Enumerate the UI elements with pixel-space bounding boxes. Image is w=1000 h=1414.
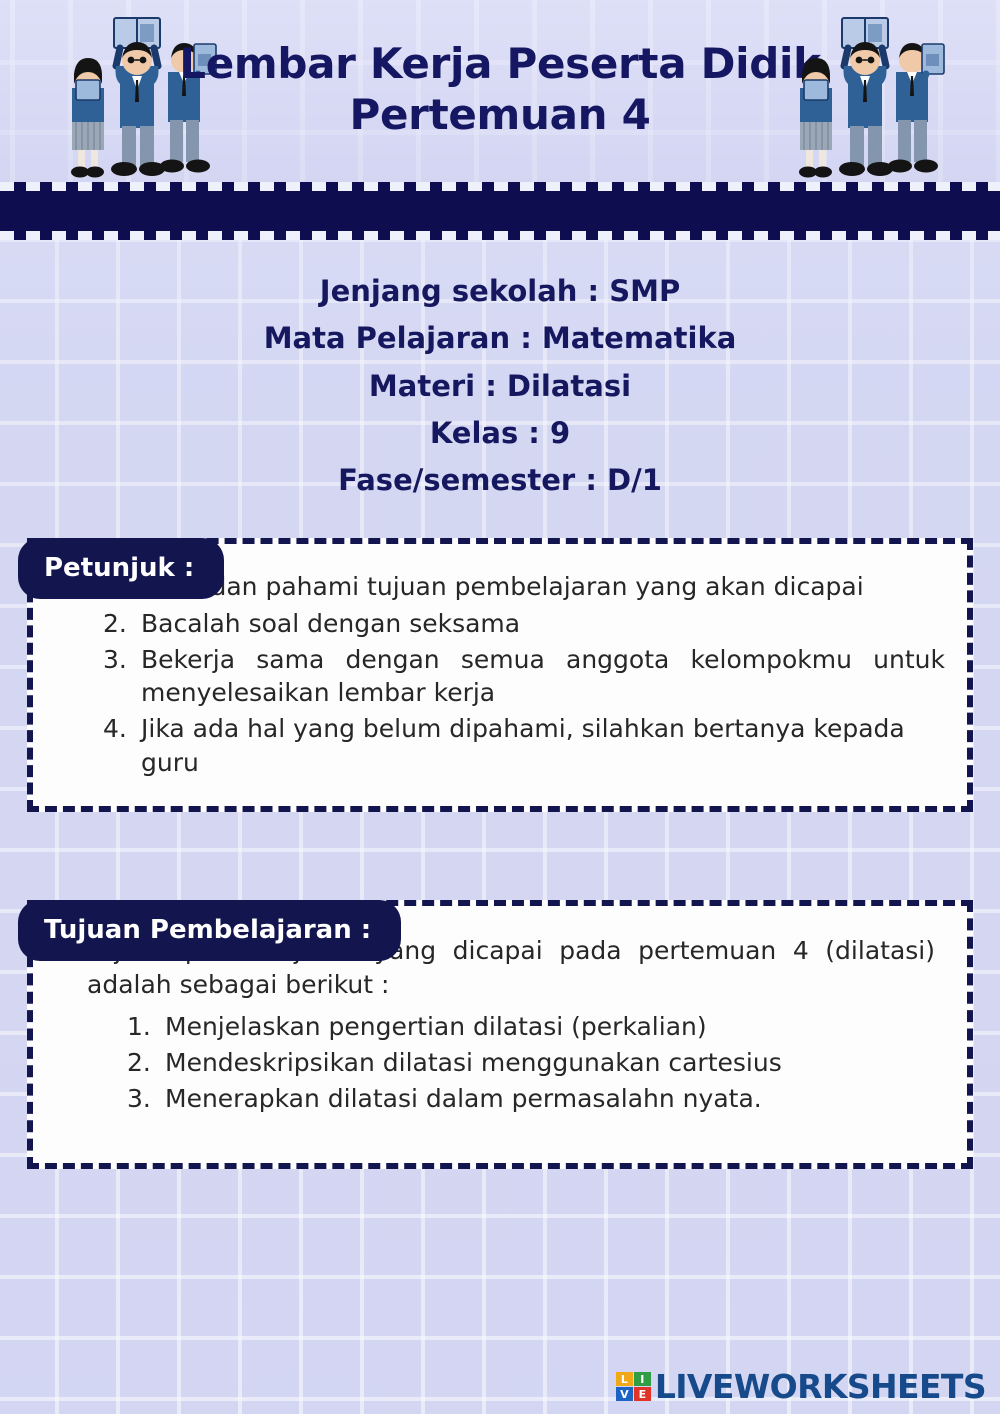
students-illustration-right xyxy=(790,14,950,180)
list-item: Bacalah soal dengan seksama xyxy=(103,607,945,640)
worksheet-page: Lembar Kerja Peserta Didik Pertemuan 4 xyxy=(0,0,1000,1414)
liveworksheets-logo[interactable]: L I V E LIVEWORKSHEETS xyxy=(616,1367,986,1406)
logo-square-l: L xyxy=(616,1372,633,1386)
logo-square-v: V xyxy=(616,1387,633,1401)
list-item: Mendeskripsikan dilatasi menggunakan car… xyxy=(127,1046,941,1079)
info-line-jenjang: Jenjang sekolah : SMP xyxy=(0,268,1000,315)
logo-square-i: I xyxy=(634,1372,651,1386)
info-line-mapel: Mata Pelajaran : Matematika xyxy=(0,315,1000,362)
liveworksheets-squares-icon: L I V E xyxy=(616,1372,651,1401)
list-item: Menerapkan dilatasi dalam permasalahn ny… xyxy=(127,1082,941,1115)
tujuan-section: Tujuan Pembelajaran : Tujuan pembelajara… xyxy=(0,900,1000,1169)
tujuan-list: Menjelaskan pengertian dilatasi (perkali… xyxy=(59,1010,941,1116)
section-spacer xyxy=(0,812,1000,866)
info-line-fase: Fase/semester : D/1 xyxy=(0,457,1000,504)
list-item: Menjelaskan pengertian dilatasi (perkali… xyxy=(127,1010,941,1043)
info-line-kelas: Kelas : 9 xyxy=(0,410,1000,457)
page-header: Lembar Kerja Peserta Didik Pertemuan 4 xyxy=(0,0,1000,182)
list-item: Bekerja sama dengan semua anggota kelomp… xyxy=(103,643,945,710)
petunjuk-list: Baca dan pahami tujuan pembelajaran yang… xyxy=(55,570,945,779)
list-item: Baca dan pahami tujuan pembelajaran yang… xyxy=(103,570,945,603)
list-item: Jika ada hal yang belum dipahami, silahk… xyxy=(103,712,945,779)
worksheet-info-block: Jenjang sekolah : SMP Mata Pelajaran : M… xyxy=(0,240,1000,504)
navy-divider-band xyxy=(0,182,1000,240)
logo-square-e: E xyxy=(634,1387,651,1401)
liveworksheets-wordmark: LIVEWORKSHEETS xyxy=(655,1367,986,1406)
page-title-line-1: Lembar Kerja Peserta Didik xyxy=(179,39,820,88)
info-line-materi: Materi : Dilatasi xyxy=(0,363,1000,410)
petunjuk-section: Petunjuk : Baca dan pahami tujuan pembel… xyxy=(0,538,1000,812)
petunjuk-badge: Petunjuk : xyxy=(18,538,224,599)
tujuan-badge: Tujuan Pembelajaran : xyxy=(18,900,401,961)
